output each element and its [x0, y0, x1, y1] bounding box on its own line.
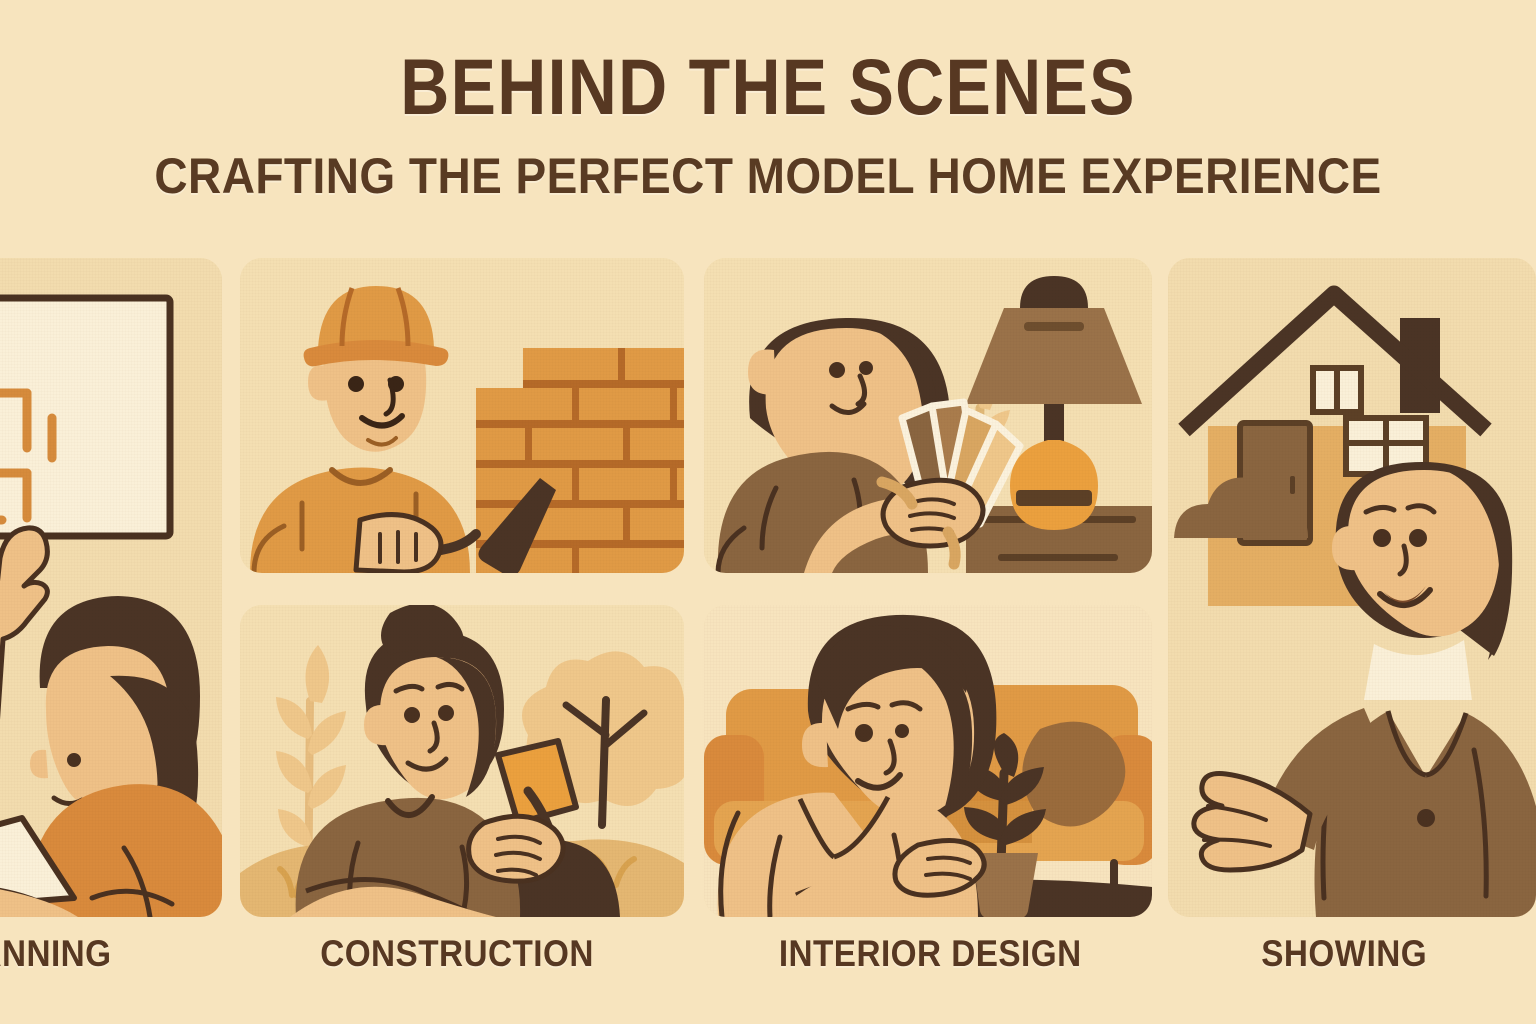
panel-planning[interactable] — [0, 258, 222, 917]
interior-design-illustration — [704, 258, 1152, 573]
caption-construction: CONSTRUCTION — [320, 933, 594, 975]
caption-showing: SHOWING — [1261, 933, 1427, 975]
staging-illustration — [704, 605, 1152, 917]
panel-construction[interactable] — [240, 258, 684, 573]
planning-illustration — [0, 258, 222, 917]
panel-staging[interactable] — [704, 605, 1152, 917]
poster-canvas: BEHIND THE SCENES CRAFTING THE PERFECT M… — [0, 0, 1536, 1024]
construction-illustration — [240, 258, 684, 573]
floor-plan-board — [0, 298, 170, 536]
worker-hand — [356, 515, 441, 572]
page-title: BEHIND THE SCENES — [108, 47, 1429, 126]
showing-illustration — [1168, 258, 1536, 917]
page-subtitle: CRAFTING THE PERFECT MODEL HOME EXPERIEN… — [61, 151, 1474, 201]
header: BEHIND THE SCENES CRAFTING THE PERFECT M… — [0, 0, 1536, 201]
attic-window — [1313, 368, 1361, 412]
caption-planning: ANNING — [0, 933, 112, 975]
panel-landscaping[interactable] — [240, 605, 684, 917]
caption-interior-design: INTERIOR DESIGN — [779, 933, 1082, 975]
panel-interior-design[interactable] — [704, 258, 1152, 573]
landscaping-illustration — [240, 605, 684, 917]
panel-showing[interactable] — [1168, 258, 1536, 917]
